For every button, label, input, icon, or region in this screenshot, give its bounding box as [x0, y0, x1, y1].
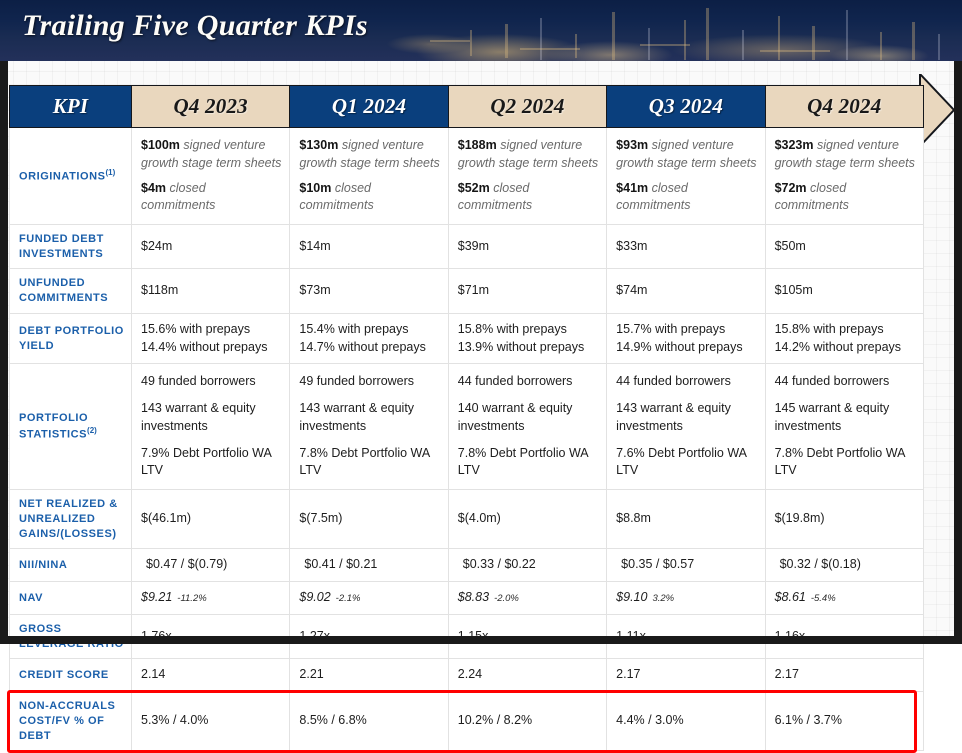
cell-originations-c0: $100m signed venture growth stage term s…	[132, 128, 290, 225]
cell-non-accruals-cost-fv-of-debt-c1: 8.5% / 6.8%	[290, 692, 448, 751]
cell-portfolio-statistics-c3: 44 funded borrowers143 warrant & equity …	[607, 364, 765, 490]
cell-funded-debt-investments-c1: $14m	[290, 225, 448, 269]
cell-debt-portfolio-yield-c2: 15.8% with prepays13.9% without prepays	[448, 313, 606, 364]
column-header-kpi: KPI	[10, 86, 132, 128]
cell-nii-nina-c3: $0.35 / $0.57	[607, 549, 765, 582]
slide-page: Trailing Five Quarter KPIs KPI Q4 2023 Q…	[0, 0, 962, 644]
row-label-credit-score: CREDIT SCORE	[10, 659, 132, 692]
cell-unfunded-commitments-c1: $73m	[290, 269, 448, 313]
cell-nii-nina-c0: $0.47 / $(0.79)	[132, 549, 290, 582]
row-label-nii-nina: NII/NINA	[10, 549, 132, 582]
slide-edge-left	[0, 61, 8, 644]
table-row: NII/NINA$0.47 / $(0.79)$0.41 / $0.21$0.3…	[10, 549, 924, 582]
cell-credit-score-c0: 2.14	[132, 659, 290, 692]
table-row: FUNDED DEBT INVESTMENTS$24m$14m$39m$33m$…	[10, 225, 924, 269]
cell-nii-nina-c2: $0.33 / $0.22	[448, 549, 606, 582]
cell-unfunded-commitments-c2: $71m	[448, 269, 606, 313]
kpi-table-wrapper: KPI Q4 2023 Q1 2024 Q2 2024 Q3 2024 Q4 2…	[9, 85, 923, 751]
cell-credit-score-c4: 2.17	[765, 659, 923, 692]
cell-debt-portfolio-yield-c4: 15.8% with prepays14.2% without prepays	[765, 313, 923, 364]
cell-funded-debt-investments-c4: $50m	[765, 225, 923, 269]
row-label-debt-portfolio-yield: DEBT PORTFOLIO YIELD	[10, 313, 132, 364]
cell-originations-c4: $323m signed venture growth stage term s…	[765, 128, 923, 225]
cell-debt-portfolio-yield-c1: 15.4% with prepays14.7% without prepays	[290, 313, 448, 364]
cell-nav-c4: $8.61-5.4%	[765, 582, 923, 615]
column-header-q4-2024: Q4 2024	[765, 86, 923, 128]
cell-net-realized-unrealized-gains-losses-c2: $(4.0m)	[448, 490, 606, 549]
cell-nav-c1: $9.02-2.1%	[290, 582, 448, 615]
row-label-net-realized-unrealized-gains-losses: NET REALIZED & UNREALIZED GAINS/(LOSSES)	[10, 490, 132, 549]
row-label-portfolio-statistics: PORTFOLIO STATISTICS(2)	[10, 364, 132, 490]
table-header-row: KPI Q4 2023 Q1 2024 Q2 2024 Q3 2024 Q4 2…	[10, 86, 924, 128]
kpi-table: KPI Q4 2023 Q1 2024 Q2 2024 Q3 2024 Q4 2…	[9, 85, 924, 751]
table-row: NET REALIZED & UNREALIZED GAINS/(LOSSES)…	[10, 490, 924, 549]
cell-credit-score-c1: 2.21	[290, 659, 448, 692]
slide-edge-bottom	[0, 636, 962, 644]
cell-portfolio-statistics-c4: 44 funded borrowers145 warrant & equity …	[765, 364, 923, 490]
row-label-non-accruals-cost-fv-of-debt: NON-ACCRUALS COST/FV % OF DEBT	[10, 692, 132, 751]
title-banner: Trailing Five Quarter KPIs	[0, 0, 962, 61]
column-header-q2-2024: Q2 2024	[448, 86, 606, 128]
cell-debt-portfolio-yield-c0: 15.6% with prepays14.4% without prepays	[132, 313, 290, 364]
cell-nav-c3: $9.103.2%	[607, 582, 765, 615]
cell-originations-c1: $130m signed venture growth stage term s…	[290, 128, 448, 225]
row-label-funded-debt-investments: FUNDED DEBT INVESTMENTS	[10, 225, 132, 269]
row-label-originations: ORIGINATIONS(1)	[10, 128, 132, 225]
table-row: UNFUNDED COMMITMENTS$118m$73m$71m$74m$10…	[10, 269, 924, 313]
kpi-table-body: ORIGINATIONS(1)$100m signed venture grow…	[10, 128, 924, 751]
row-label-nav: NAV	[10, 582, 132, 615]
cell-nav-c2: $8.83-2.0%	[448, 582, 606, 615]
cell-credit-score-c3: 2.17	[607, 659, 765, 692]
cell-net-realized-unrealized-gains-losses-c0: $(46.1m)	[132, 490, 290, 549]
cell-net-realized-unrealized-gains-losses-c1: $(7.5m)	[290, 490, 448, 549]
cell-non-accruals-cost-fv-of-debt-c2: 10.2% / 8.2%	[448, 692, 606, 751]
cell-unfunded-commitments-c0: $118m	[132, 269, 290, 313]
column-header-q3-2024: Q3 2024	[607, 86, 765, 128]
cell-non-accruals-cost-fv-of-debt-c3: 4.4% / 3.0%	[607, 692, 765, 751]
cell-net-realized-unrealized-gains-losses-c3: $8.8m	[607, 490, 765, 549]
table-row: NON-ACCRUALS COST/FV % OF DEBT5.3% / 4.0…	[10, 692, 924, 751]
cell-credit-score-c2: 2.24	[448, 659, 606, 692]
column-header-q4-2023: Q4 2023	[132, 86, 290, 128]
cell-funded-debt-investments-c0: $24m	[132, 225, 290, 269]
table-row: NAV$9.21-11.2%$9.02-2.1%$8.83-2.0%$9.103…	[10, 582, 924, 615]
page-title: Trailing Five Quarter KPIs	[22, 9, 368, 43]
cell-originations-c3: $93m signed venture growth stage term sh…	[607, 128, 765, 225]
cell-portfolio-statistics-c2: 44 funded borrowers140 warrant & equity …	[448, 364, 606, 490]
cell-originations-c2: $188m signed venture growth stage term s…	[448, 128, 606, 225]
table-row: ORIGINATIONS(1)$100m signed venture grow…	[10, 128, 924, 225]
table-row: CREDIT SCORE2.142.212.242.172.17	[10, 659, 924, 692]
table-row: PORTFOLIO STATISTICS(2)49 funded borrowe…	[10, 364, 924, 490]
cell-portfolio-statistics-c1: 49 funded borrowers143 warrant & equity …	[290, 364, 448, 490]
cell-nav-c0: $9.21-11.2%	[132, 582, 290, 615]
cell-non-accruals-cost-fv-of-debt-c0: 5.3% / 4.0%	[132, 692, 290, 751]
cell-portfolio-statistics-c0: 49 funded borrowers143 warrant & equity …	[132, 364, 290, 490]
cell-nii-nina-c1: $0.41 / $0.21	[290, 549, 448, 582]
cell-unfunded-commitments-c3: $74m	[607, 269, 765, 313]
column-header-q1-2024: Q1 2024	[290, 86, 448, 128]
cell-unfunded-commitments-c4: $105m	[765, 269, 923, 313]
cell-funded-debt-investments-c2: $39m	[448, 225, 606, 269]
cell-funded-debt-investments-c3: $33m	[607, 225, 765, 269]
slide-edge-right	[954, 61, 962, 644]
row-label-unfunded-commitments: UNFUNDED COMMITMENTS	[10, 269, 132, 313]
cell-non-accruals-cost-fv-of-debt-c4: 6.1% / 3.7%	[765, 692, 923, 751]
cell-debt-portfolio-yield-c3: 15.7% with prepays14.9% without prepays	[607, 313, 765, 364]
cell-nii-nina-c4: $0.32 / $(0.18)	[765, 549, 923, 582]
cell-net-realized-unrealized-gains-losses-c4: $(19.8m)	[765, 490, 923, 549]
table-row: DEBT PORTFOLIO YIELD15.6% with prepays14…	[10, 313, 924, 364]
